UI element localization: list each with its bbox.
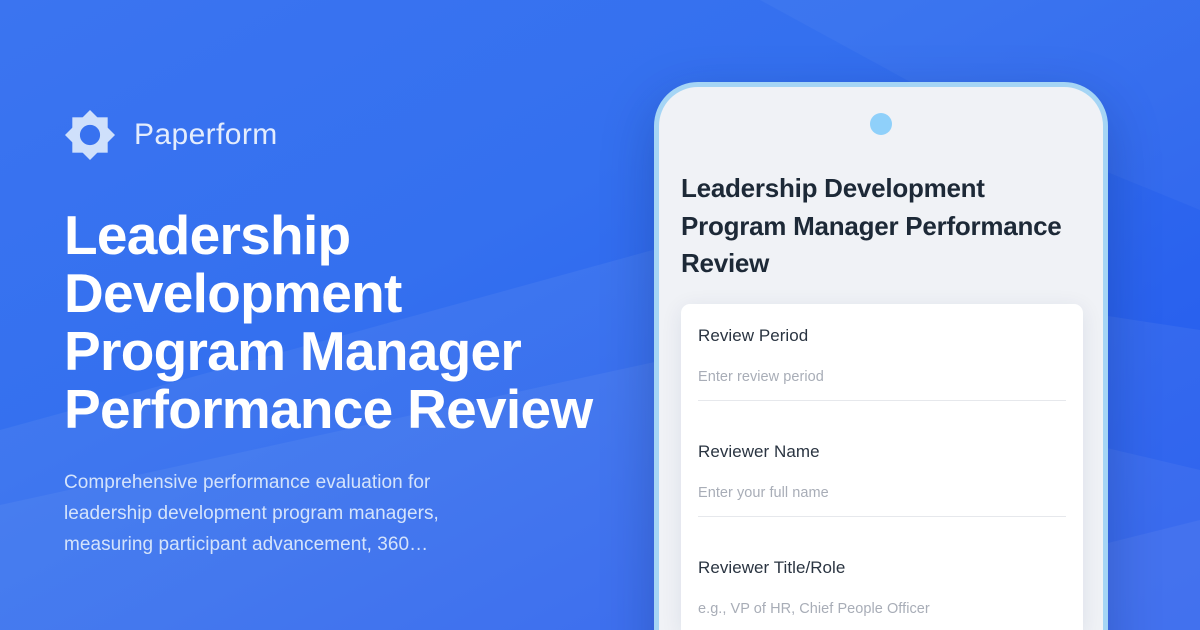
review-period-input[interactable]: Enter review period <box>698 369 1066 401</box>
hero-content: Paperform Leadership Development Program… <box>64 104 644 560</box>
reviewer-title-input[interactable]: e.g., VP of HR, Chief People Officer <box>698 601 1066 630</box>
field-label: Reviewer Name <box>698 442 1066 462</box>
paperform-star-logo-icon <box>64 109 116 161</box>
page-title: Leadership Development Program Manager P… <box>64 206 624 438</box>
field-label: Review Period <box>698 326 1066 346</box>
field-label: Reviewer Title/Role <box>698 558 1066 578</box>
brand-name: Paperform <box>134 118 278 152</box>
form-title: Leadership Development Program Manager P… <box>681 170 1081 283</box>
field-spacer <box>681 401 1083 420</box>
page-subtitle: Comprehensive performance evaluation for… <box>64 468 516 560</box>
brand-lockup: Paperform <box>64 104 644 166</box>
form-field-review-period[interactable]: Review Period Enter review period <box>681 304 1083 401</box>
reviewer-name-input[interactable]: Enter your full name <box>698 485 1066 517</box>
phone-mockup: Leadership Development Program Manager P… <box>654 82 1108 630</box>
form-field-reviewer-title[interactable]: Reviewer Title/Role e.g., VP of HR, Chie… <box>681 536 1083 630</box>
camera-dot-icon <box>870 113 892 135</box>
field-spacer <box>681 517 1083 536</box>
form-card: Review Period Enter review period Review… <box>681 304 1083 630</box>
og-image-canvas: Paperform Leadership Development Program… <box>0 0 1200 630</box>
form-field-reviewer-name[interactable]: Reviewer Name Enter your full name <box>681 420 1083 517</box>
